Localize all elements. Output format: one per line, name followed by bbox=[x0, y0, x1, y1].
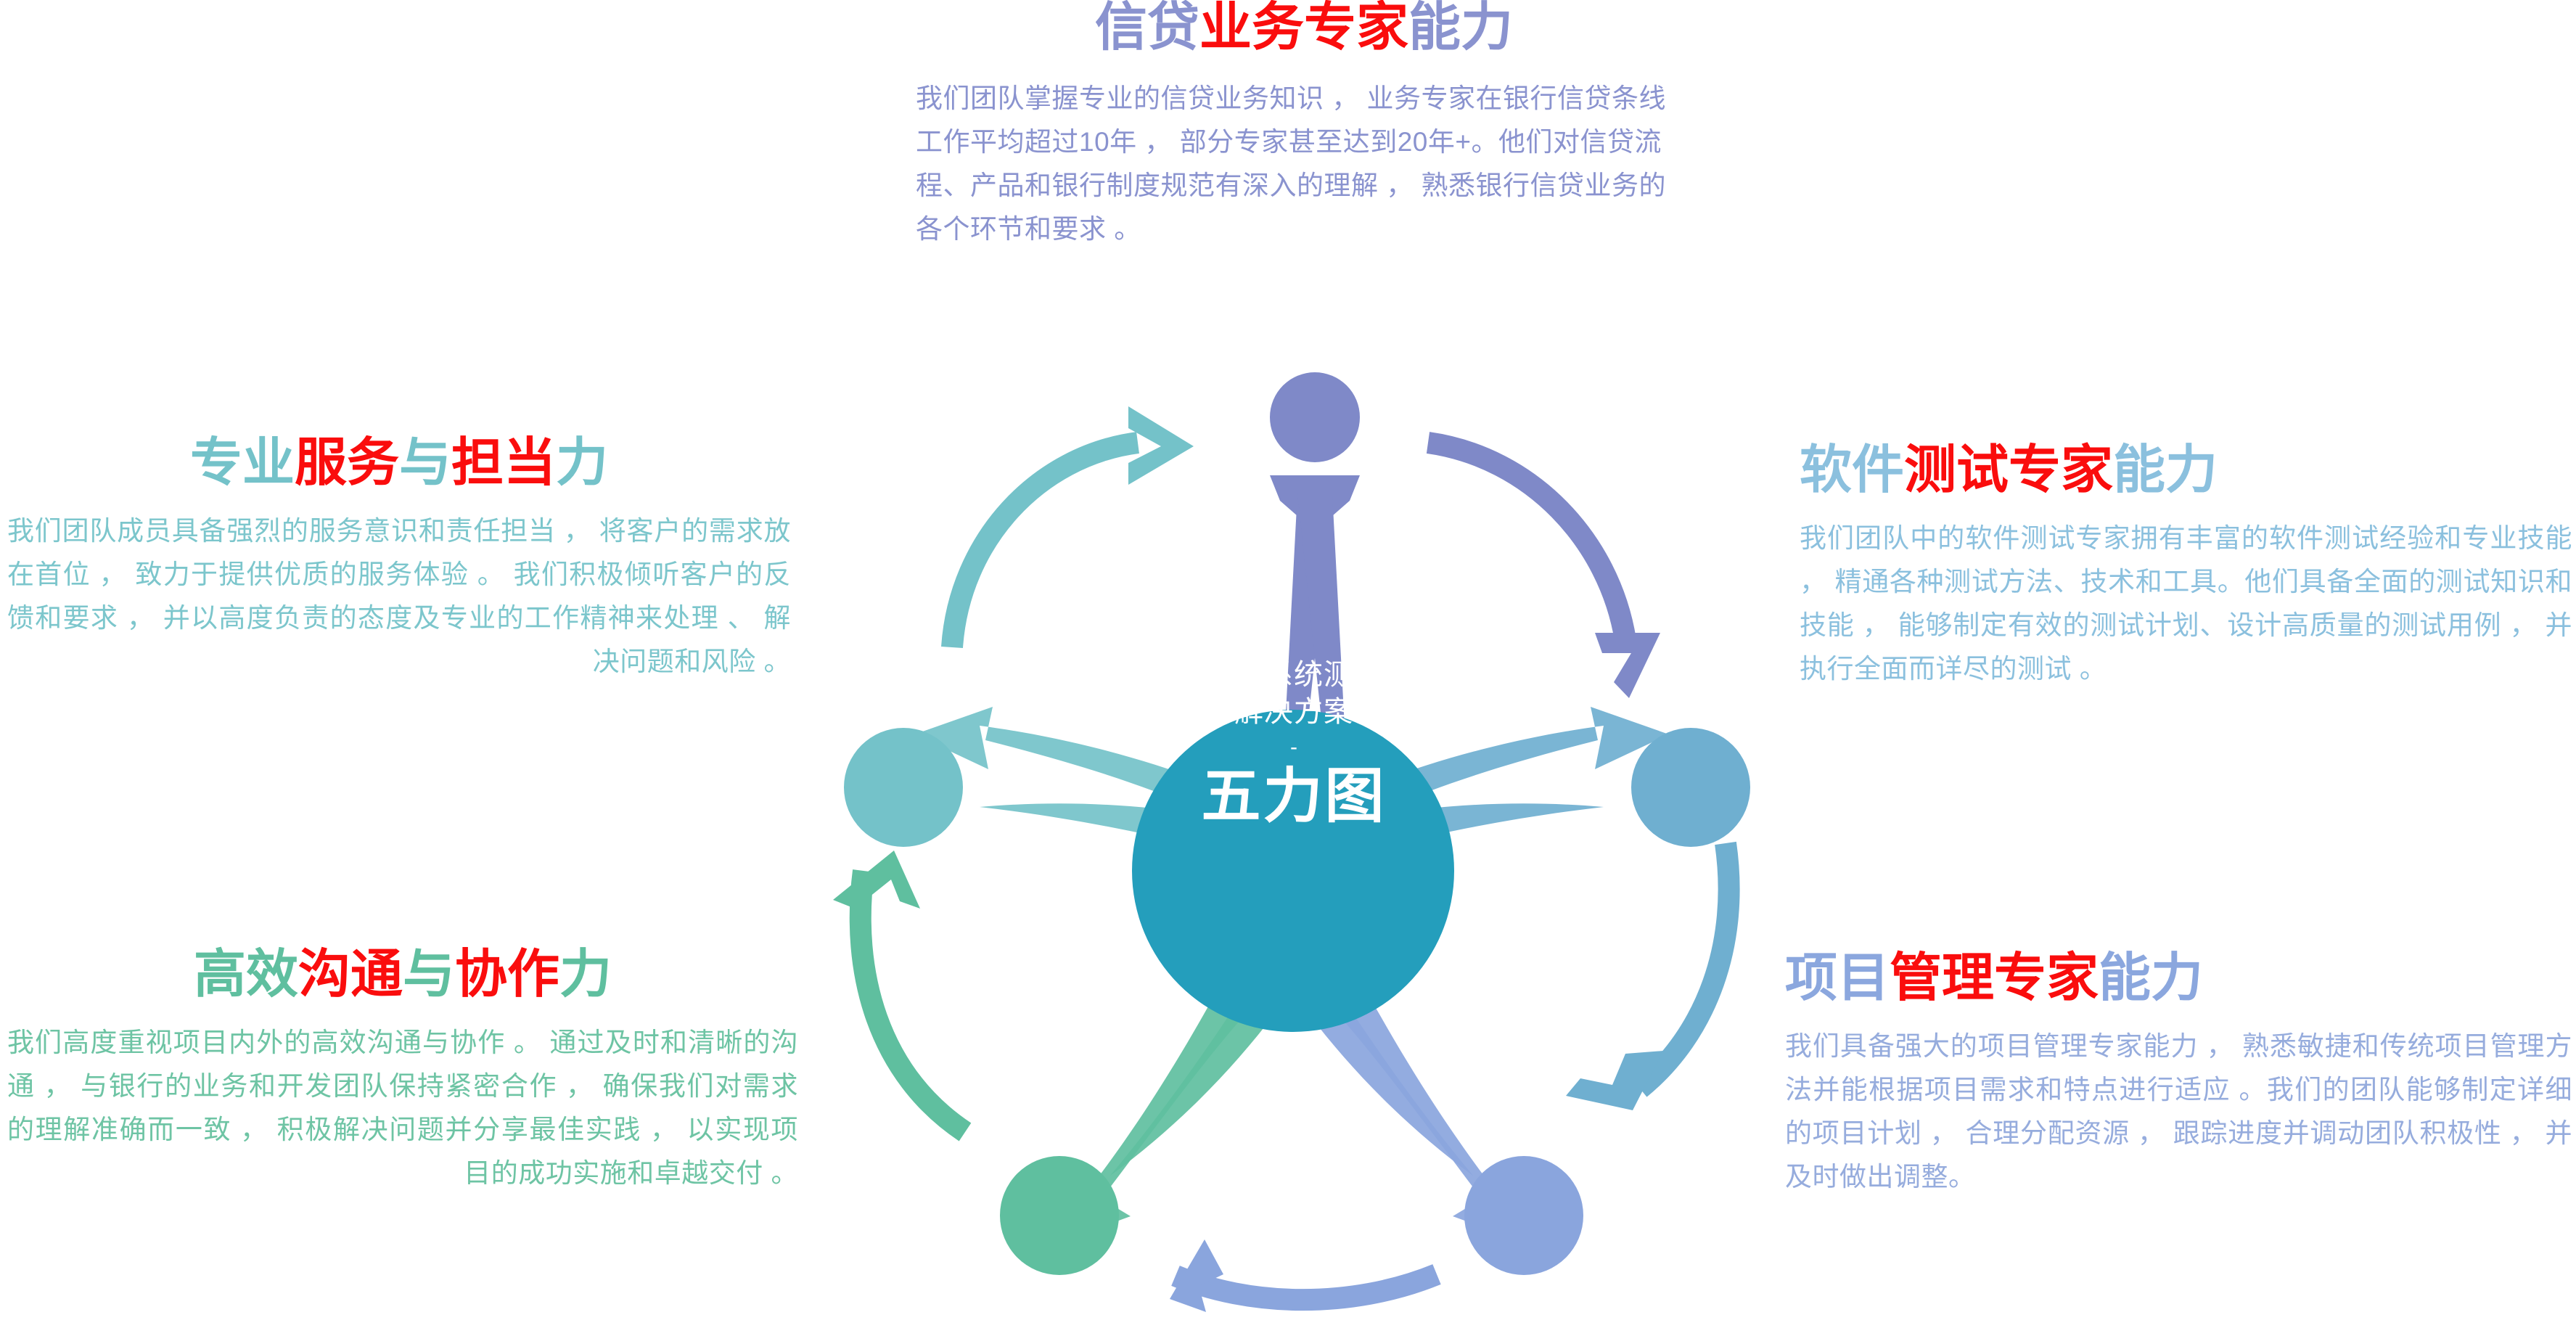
title-segment-2: 能力 bbox=[2099, 949, 2203, 1007]
connector-arrow-bottom bbox=[1170, 1239, 1437, 1312]
section-qa-expertise: 软件测试专家能力 我们团队中的软件测试专家拥有丰富的软件测试经验和专业技能 ， … bbox=[1800, 443, 2572, 691]
title-segment-2: 能力 bbox=[1408, 0, 1513, 57]
node-bottom-left-circle bbox=[1000, 1156, 1119, 1275]
title-segment-3: 协作 bbox=[455, 946, 559, 1004]
title-segment-2: 能力 bbox=[2113, 441, 2218, 499]
title-segment-3: 担当 bbox=[451, 434, 556, 492]
section-pm-body: 我们具备强大的项目管理专家能力 ， 熟悉敏捷和传统项目管理方法并能根据项目需求和… bbox=[1785, 1025, 2572, 1199]
connector-arrow-topright bbox=[1428, 443, 1660, 698]
title-segment-0: 信贷 bbox=[1095, 0, 1199, 57]
section-pm-title: 项目管理专家能力 bbox=[1785, 951, 2572, 1006]
title-segment-4: 力 bbox=[559, 946, 612, 1004]
person-icon bbox=[1270, 372, 1360, 740]
section-service-title: 专业服务与担当力 bbox=[7, 435, 791, 491]
title-segment-0: 项目 bbox=[1785, 949, 1890, 1007]
section-qa-body: 我们团队中的软件测试专家拥有丰富的软件测试经验和专业技能 ， 精通各种测试方法、… bbox=[1800, 517, 2572, 691]
node-right-circle bbox=[1631, 728, 1750, 847]
center-hub-circle bbox=[1132, 710, 1454, 1032]
section-credit-title: 信贷业务专家能力 bbox=[916, 0, 1692, 55]
title-segment-1: 沟通 bbox=[298, 946, 403, 1004]
section-communication-body: 我们高度重视项目内外的高效沟通与协作 。 通过及时和清晰的沟通 ， 与银行的业务… bbox=[7, 1021, 798, 1195]
node-bottom-right-circle bbox=[1464, 1156, 1583, 1275]
title-segment-1: 测试专家 bbox=[1904, 441, 2113, 499]
section-service-body: 我们团队成员具备强烈的服务意识和责任担当 ， 将客户的需求放在首位 ， 致力于提… bbox=[7, 509, 791, 684]
title-segment-2: 与 bbox=[399, 434, 451, 492]
connector-arrow-left bbox=[833, 851, 965, 1132]
connector-arrow-right bbox=[1566, 843, 1729, 1110]
connector-arrow-topleft bbox=[952, 406, 1194, 647]
title-segment-2: 与 bbox=[403, 946, 455, 1004]
title-segment-1: 管理专家 bbox=[1890, 949, 2099, 1007]
node-left-circle bbox=[844, 728, 963, 847]
title-segment-0: 专业 bbox=[190, 434, 295, 492]
title-segment-1: 业务专家 bbox=[1199, 0, 1408, 57]
section-credit-body: 我们团队掌握专业的信贷业务知识 ， 业务专家在银行信贷条线工作平均超过10年 ，… bbox=[916, 77, 1692, 251]
title-segment-4: 力 bbox=[556, 434, 608, 492]
section-service-commitment: 专业服务与担当力 我们团队成员具备强烈的服务意识和责任担当 ， 将客户的需求放在… bbox=[7, 435, 791, 684]
section-communication-collaboration: 高效沟通与协作力 我们高度重视项目内外的高效沟通与协作 。 通过及时和清晰的沟通… bbox=[7, 947, 798, 1195]
title-segment-0: 软件 bbox=[1800, 441, 1904, 499]
title-segment-0: 高效 bbox=[194, 946, 298, 1004]
five-forces-diagram: 信贷系统测试 解决方案 - 五力图 bbox=[798, 363, 1785, 1328]
section-pm-expertise: 项目管理专家能力 我们具备强大的项目管理专家能力 ， 熟悉敏捷和传统项目管理方法… bbox=[1785, 951, 2572, 1199]
section-qa-title: 软件测试专家能力 bbox=[1800, 443, 2572, 498]
section-communication-title: 高效沟通与协作力 bbox=[7, 947, 798, 1002]
title-segment-1: 服务 bbox=[295, 434, 399, 492]
section-credit-expertise: 信贷业务专家能力 我们团队掌握专业的信贷业务知识 ， 业务专家在银行信贷条线工作… bbox=[916, 0, 1692, 251]
